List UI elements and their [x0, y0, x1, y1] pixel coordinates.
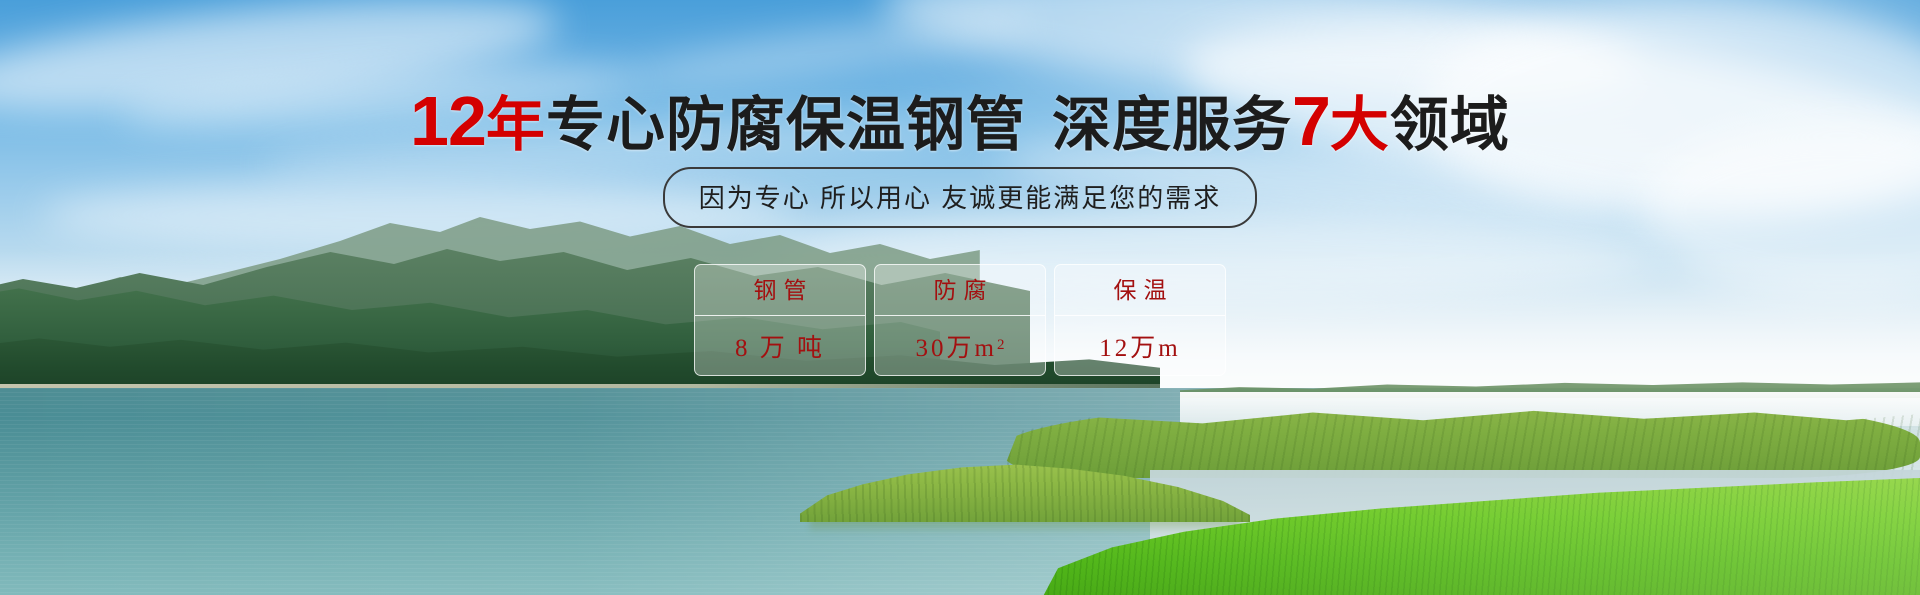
promo-banner: 12年专心防腐保温钢管深度服务7大领域 因为专心 所以用心 友诚更能满足您的需求…	[0, 0, 1920, 595]
stat-value-text: 8 万 吨	[735, 328, 825, 364]
stat-card-value: 30万m2	[916, 316, 1005, 375]
stat-card-value: 12万m	[1099, 316, 1180, 375]
stat-value-text: 30万m	[916, 328, 997, 364]
stat-cards: 钢管 8 万 吨 防腐 30万m2 保温 12万m	[0, 264, 1920, 376]
stat-card-title: 保温	[1107, 265, 1174, 315]
stat-card-title: 钢管	[747, 265, 814, 315]
headline-phrase-three: 领域	[1390, 92, 1510, 158]
subtitle-container: 因为专心 所以用心 友诚更能满足您的需求	[0, 167, 1920, 228]
subtitle-pill: 因为专心 所以用心 友诚更能满足您的需求	[663, 167, 1257, 228]
headline-phrase-two: 深度服务	[1052, 92, 1292, 158]
headline-phrase-one: 专心防腐保温钢管	[546, 92, 1026, 158]
stat-card-insulation[interactable]: 保温 12万m	[1054, 264, 1226, 376]
headline-fields-number: 7	[1292, 82, 1330, 160]
headline-years-unit: 年	[486, 92, 546, 158]
headline: 12年专心防腐保温钢管深度服务7大领域	[0, 86, 1920, 156]
stat-card-title: 防腐	[927, 265, 994, 315]
stat-value-text: 12万m	[1099, 328, 1180, 364]
stat-card-value: 8 万 吨	[735, 316, 825, 375]
stat-card-steel-pipe[interactable]: 钢管 8 万 吨	[694, 264, 866, 376]
stat-card-anticorrosion[interactable]: 防腐 30万m2	[874, 264, 1046, 376]
headline-fields-unit: 大	[1330, 92, 1390, 158]
stat-value-superscript: 2	[997, 337, 1005, 354]
headline-years-number: 12	[410, 82, 486, 160]
